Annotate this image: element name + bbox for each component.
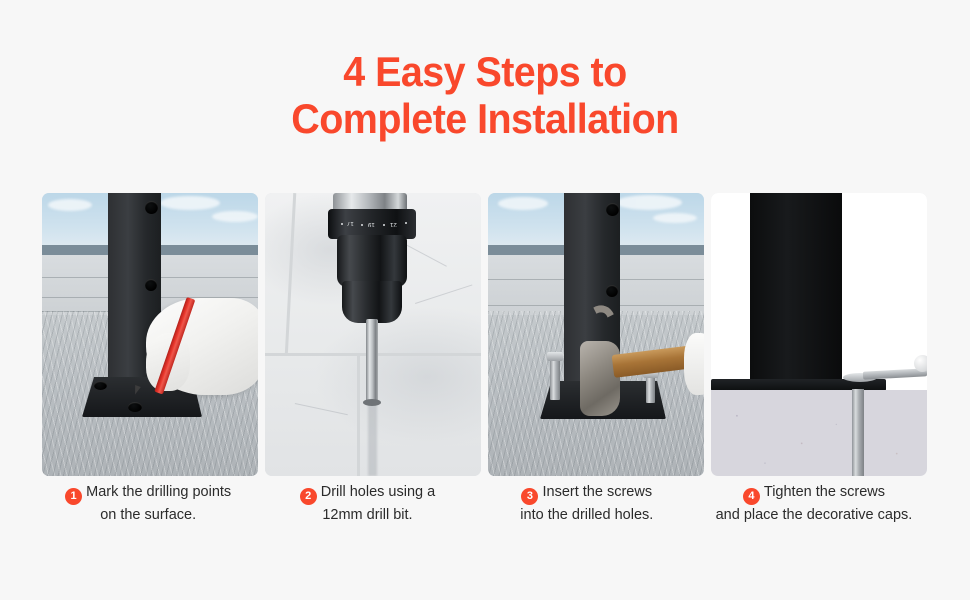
drill-bit-reflection	[368, 403, 377, 476]
railing-post-cross-section	[750, 193, 842, 383]
clutch-marker-dot	[341, 223, 343, 225]
step-1-caption-line-2: on the surface.	[42, 505, 254, 526]
gloved-hand	[684, 333, 704, 395]
step-2-badge: 2	[300, 488, 317, 505]
drill-bit	[366, 319, 378, 405]
step-3-image	[488, 193, 704, 476]
cloud	[212, 211, 258, 222]
base-plate-hole	[128, 402, 142, 412]
page-title: 4 Easy Steps to Complete Installation	[0, 48, 970, 142]
clutch-number-17: 17	[347, 220, 354, 226]
step-2-image: 17 19 21	[265, 193, 481, 476]
cloud	[160, 196, 220, 210]
decorative-cap	[914, 355, 927, 372]
step-2-caption: 2Drill holes using a 12mm drill bit.	[261, 482, 473, 526]
step-1-image	[42, 193, 258, 476]
post-hole	[145, 279, 157, 291]
post-hole	[145, 201, 158, 214]
step-3-caption-line-1: Insert the screws	[542, 484, 652, 500]
step-3-caption: 3Insert the screws into the drilled hole…	[481, 482, 693, 526]
installation-steps-infographic: 4 Easy Steps to Complete Installation	[0, 0, 970, 600]
anchor-screw-head	[547, 352, 563, 361]
clutch-marker-dot	[383, 224, 385, 226]
cloud	[498, 197, 548, 210]
tile-grout-line	[357, 356, 360, 476]
drill-entry-point	[363, 399, 381, 406]
step-caption-row: 1Mark the drilling points on the surface…	[42, 482, 928, 526]
step-1-caption: 1Mark the drilling points on the surface…	[42, 482, 254, 526]
clutch-number-19: 19	[368, 221, 375, 227]
cloud	[48, 199, 92, 211]
step-1-badge: 1	[65, 488, 82, 505]
drill-chuck-nose	[342, 281, 402, 323]
step-4-caption-line-1: Tighten the screws	[764, 484, 885, 500]
cloud	[653, 213, 697, 223]
drill-chuck-upper	[337, 235, 407, 287]
step-4-caption: 4Tighten the screws and place the decora…	[700, 482, 928, 526]
hammer-head	[580, 341, 620, 416]
title-line-2: Complete Installation	[29, 95, 941, 142]
anchor-bolt	[852, 389, 864, 476]
anchor-screw	[550, 358, 560, 400]
post-hole	[606, 285, 618, 297]
step-3-caption-line-2: into the drilled holes.	[481, 505, 693, 526]
step-4-badge: 4	[743, 488, 760, 505]
clutch-number-21: 21	[390, 221, 397, 227]
title-line-1: 4 Easy Steps to	[29, 48, 941, 95]
concrete-substrate	[711, 390, 927, 476]
clutch-marker-dot	[361, 224, 363, 226]
step-4-caption-line-2: and place the decorative caps.	[700, 505, 928, 526]
step-3-badge: 3	[521, 488, 538, 505]
step-2-caption-line-1: Drill holes using a	[321, 484, 435, 500]
clutch-marker-dot	[405, 222, 407, 224]
step-4-image	[711, 193, 927, 476]
step-1-caption-line-1: Mark the drilling points	[86, 484, 231, 500]
base-plate-hole	[94, 381, 107, 390]
step-2-caption-line-2: 12mm drill bit.	[261, 505, 473, 526]
post-hole	[606, 203, 619, 216]
anchor-screw	[646, 375, 655, 403]
step-image-row: 17 19 21	[42, 193, 928, 476]
cloud	[616, 195, 682, 210]
